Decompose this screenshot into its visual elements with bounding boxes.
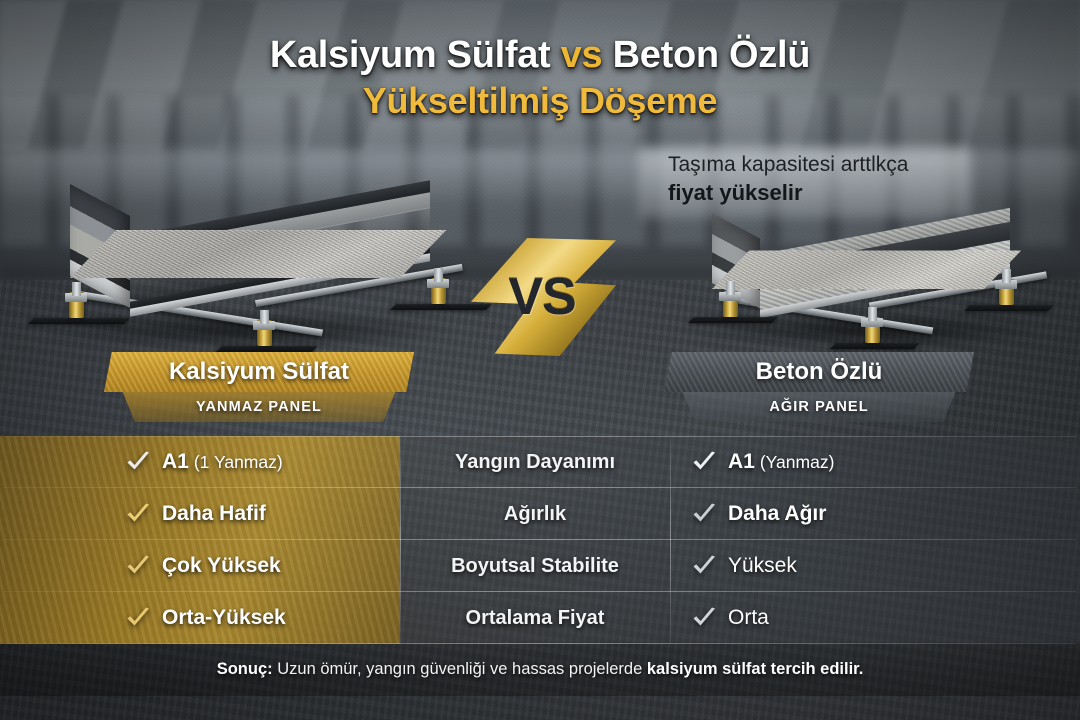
infographic-canvas: Kalsiyum Sülfat vs Beton Özlü Yükseltilm… — [0, 0, 1080, 720]
value-main: Daha Ağır — [728, 502, 826, 525]
value-main: Orta — [728, 606, 769, 629]
feature-label: Ortalama Fiyat — [466, 607, 605, 630]
feature-label: Ağırlık — [504, 503, 566, 526]
value-main: Yüksek — [728, 554, 797, 577]
value-note: (1 Yanmaz) — [194, 452, 283, 472]
column-header-right: Beton Özlü AĞIR PANEL — [664, 352, 974, 422]
page-title: Kalsiyum Sülfat vs Beton Özlü Yükseltilm… — [0, 34, 1080, 121]
column-header-left-subbanner: YANMAZ PANEL — [104, 392, 414, 422]
table-cell-right-value: Daha Ağır — [728, 502, 826, 526]
table-cell-left-value: Çok Yüksek — [162, 554, 281, 578]
title-line-1: Kalsiyum Sülfat vs Beton Özlü — [0, 34, 1080, 77]
title-line-1-left: Kalsiyum Sülfat — [270, 34, 551, 76]
check-icon — [692, 555, 717, 577]
title-line-1-right: Beton Özlü — [613, 34, 811, 76]
footer-conclusion: Sonuç: Uzun ömür, yangın güvenliği ve ha… — [0, 648, 1080, 690]
feature-label: Yangın Dayanımı — [455, 451, 615, 474]
footer-emphasis: kalsiyum sülfat tercih edilir. — [647, 660, 863, 678]
check-icon — [126, 451, 151, 473]
value-main: A1 — [162, 450, 189, 473]
table-cell-left: A1(1 Yanmaz) — [0, 450, 400, 474]
pedestal-stem — [1002, 269, 1011, 283]
vs-badge: VS — [468, 238, 616, 356]
pedestal-stem — [726, 281, 735, 295]
pedestal-right-rear — [964, 259, 1048, 311]
value-note: (Yanmaz) — [760, 452, 835, 472]
table-cell-right-value: Orta — [728, 606, 769, 630]
panel-top-surface — [70, 158, 400, 278]
table-cell-left-value: Orta-Yüksek — [162, 606, 286, 630]
footer-label: Sonuç: — [217, 660, 273, 678]
feature-label: Boyutsal Stabilite — [451, 555, 619, 578]
table-cell-left: Çok Yüksek — [0, 554, 400, 578]
footer-text: Sonuç: Uzun ömür, yangın güvenliği ve ha… — [217, 660, 864, 679]
column-header-left: Kalsiyum Sülfat YANMAZ PANEL — [104, 352, 414, 422]
pedestal-left-rear — [28, 266, 124, 324]
check-icon — [692, 607, 717, 629]
table-cell-feature: Ortalama Fiyat — [400, 607, 670, 630]
table-cell-right-value: A1(Yanmaz) — [728, 450, 834, 474]
comparison-table: A1(1 Yanmaz) Yangın Dayanımı A1(Yanmaz) — [0, 436, 1080, 644]
table-cell-right: Yüksek — [670, 554, 1080, 578]
column-header-left-subtitle: YANMAZ PANEL — [196, 399, 322, 415]
column-header-right-subtitle: AĞIR PANEL — [769, 399, 868, 415]
table-cell-left: Orta-Yüksek — [0, 606, 400, 630]
check-icon — [126, 607, 151, 629]
pedestal-stem — [260, 310, 269, 324]
column-header-left-title: Kalsiyum Sülfat — [169, 358, 349, 386]
value-main: Orta-Yüksek — [162, 606, 286, 629]
table-cell-left-value: A1(1 Yanmaz) — [162, 450, 283, 474]
table-cell-right-value: Yüksek — [728, 554, 797, 578]
check-icon — [126, 503, 151, 525]
check-icon — [126, 555, 151, 577]
column-header-left-banner: Kalsiyum Sülfat — [104, 352, 414, 392]
pedestal-stem — [434, 268, 443, 282]
pedestal-left-rear — [688, 271, 772, 323]
value-main: A1 — [728, 450, 755, 473]
table-row: Daha Hafif Ağırlık Daha Ağır — [0, 488, 1080, 540]
subtitle-line-2: fiyat yükselir — [668, 179, 908, 207]
pedestal-base-plate — [830, 343, 920, 349]
table-cell-right: Daha Ağır — [670, 502, 1080, 526]
calcium-sulphate-panel-photo — [18, 160, 478, 345]
table-cell-right: Orta — [670, 606, 1080, 630]
pedestal-front — [830, 301, 914, 349]
subtitle: Taşıma kapasitesi arttlkça fiyat yükseli… — [668, 152, 908, 207]
table-cell-left-value: Daha Hafif — [162, 502, 266, 526]
pedestal-base-plate — [964, 305, 1054, 311]
check-icon — [692, 451, 717, 473]
table-cell-feature: Ağırlık — [400, 503, 670, 526]
column-header-right-title: Beton Özlü — [756, 358, 883, 386]
pedestal-stem — [72, 282, 81, 296]
value-main: Çok Yüksek — [162, 554, 281, 577]
title-vs-word: vs — [561, 34, 603, 76]
column-header-right-banner: Beton Özlü — [664, 352, 974, 392]
pedestal-base-plate — [688, 317, 778, 323]
title-line-2: Yükseltilmiş Döşeme — [0, 81, 1080, 121]
subtitle-line-1: Taşıma kapasitesi arttlkça — [668, 152, 908, 179]
pedestal-front — [216, 300, 312, 352]
footer-body: Uzun ömür, yangın güvenliği ve hassas pr… — [273, 660, 647, 678]
pedestal-base-plate — [28, 318, 130, 324]
table-row: Orta-Yüksek Ortalama Fiyat Orta — [0, 592, 1080, 644]
table-cell-right: A1(Yanmaz) — [670, 450, 1080, 474]
table-row: A1(1 Yanmaz) Yangın Dayanımı A1(Yanmaz) — [0, 436, 1080, 488]
table-cell-feature: Yangın Dayanımı — [400, 451, 670, 474]
table-cell-feature: Boyutsal Stabilite — [400, 555, 670, 578]
check-icon — [692, 503, 717, 525]
vs-badge-label: VS — [468, 238, 616, 356]
column-header-right-subbanner: AĞIR PANEL — [664, 392, 974, 422]
table-cell-left: Daha Hafif — [0, 502, 400, 526]
value-main: Daha Hafif — [162, 502, 266, 525]
table-row: Çok Yüksek Boyutsal Stabilite Yüksek — [0, 540, 1080, 592]
pedestal-stem — [868, 307, 877, 321]
